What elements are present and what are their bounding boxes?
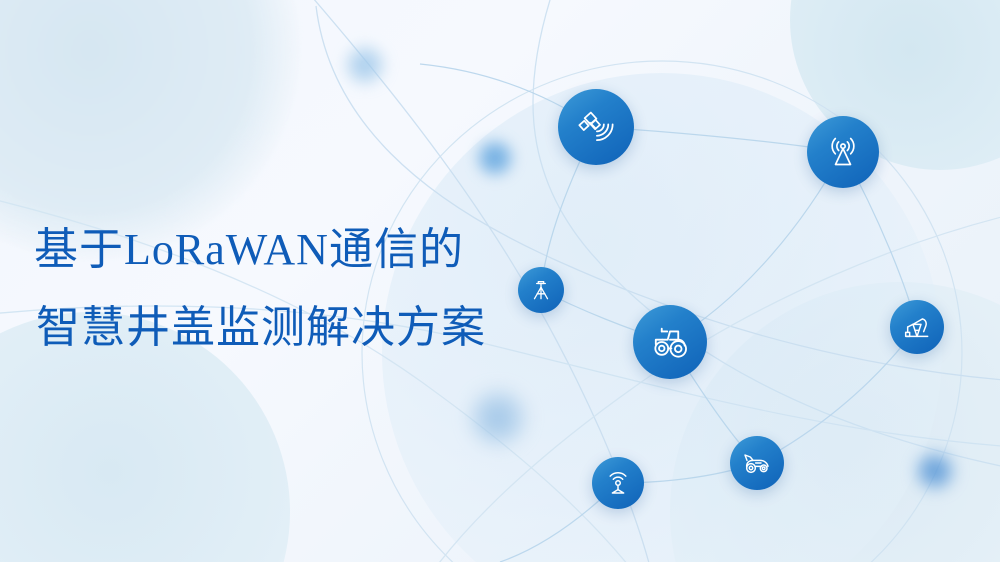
bokeh-dot-2 — [474, 137, 516, 179]
title-line-1: 基于LoRaWAN通信的 — [34, 228, 594, 272]
radio-tower-icon-node[interactable] — [807, 116, 879, 188]
oil-pump-icon — [901, 311, 933, 343]
oil-pump-icon-node[interactable] — [890, 300, 944, 354]
tractor-icon — [648, 320, 692, 364]
title-block: 基于LoRaWAN通信的 智慧井盖监测解决方案 — [34, 228, 594, 350]
title-slide: 基于LoRaWAN通信的 智慧井盖监测解决方案 — [0, 0, 1000, 562]
satellite-icon — [575, 106, 617, 148]
wireless-sensor-icon-node[interactable] — [592, 457, 644, 509]
tractor-icon-node[interactable] — [633, 305, 707, 379]
harvester-icon-node[interactable] — [730, 436, 784, 490]
satellite-icon-node[interactable] — [558, 89, 634, 165]
title-line-2: 智慧井盖监测解决方案 — [34, 306, 594, 350]
bokeh-dot-4 — [913, 449, 957, 493]
radio-tower-icon — [823, 132, 863, 172]
bokeh-dot-1 — [342, 42, 388, 88]
harvester-icon — [741, 447, 773, 479]
wireless-sensor-icon — [603, 468, 633, 498]
bokeh-dot-3 — [467, 387, 529, 449]
